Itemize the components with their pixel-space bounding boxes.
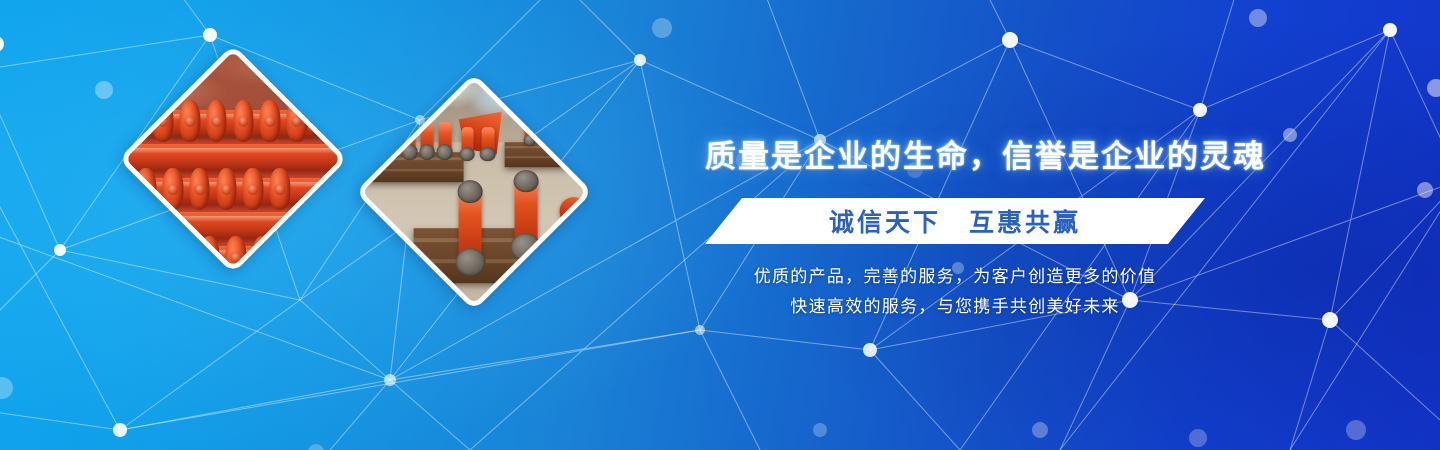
banner-subline-1: 优质的产品，完善的服务，为客户创造更多的价值 xyxy=(705,262,1205,292)
slogan-ribbon: 诚信天下 互惠共赢 xyxy=(705,198,1205,244)
banner-sublines: 优质的产品，完善的服务，为客户创造更多的价值 快速高效的服务，与您携手共创美好未… xyxy=(705,262,1205,322)
banner-subline-2: 快速高效的服务，与您携手共创美好未来 xyxy=(705,292,1205,322)
banner-headline: 质量是企业的生命，信誉是企业的灵魂 xyxy=(705,138,1225,175)
slogan-ribbon-text: 诚信天下 互惠共赢 xyxy=(705,198,1205,244)
promo-banner: 质量是企业的生命，信誉是企业的灵魂 诚信天下 互惠共赢 优质的产品，完善的服务，… xyxy=(0,0,1440,450)
